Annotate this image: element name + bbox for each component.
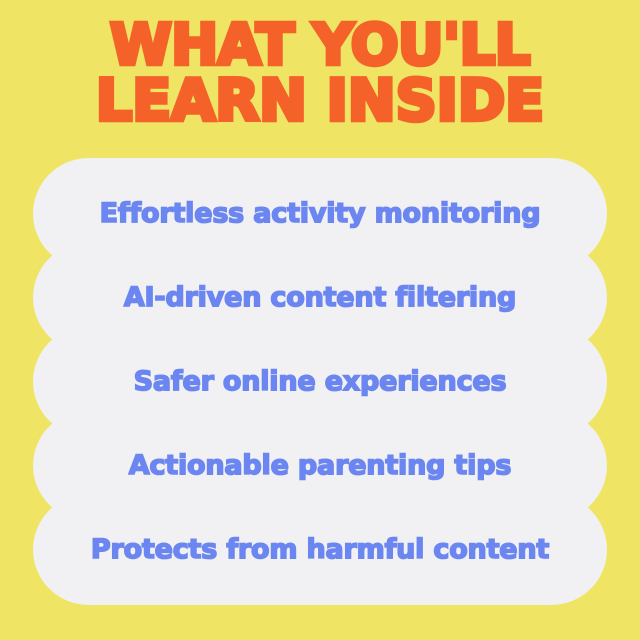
feature-list: Protects from harmful content Actionable…	[33, 158, 607, 605]
feature-label-3: Safer online experiences	[134, 368, 507, 395]
page-title: WHAT YOU'LL LEARN INSIDE	[0, 18, 640, 130]
promo-poster: WHAT YOU'LL LEARN INSIDE Protects from h…	[0, 0, 640, 640]
page-title-line-1: WHAT YOU'LL	[0, 18, 640, 73]
feature-label-2: AI-driven content filtering	[124, 284, 516, 311]
list-item[interactable]: Effortless activity monitoring	[33, 158, 607, 269]
feature-label-1: Effortless activity monitoring	[100, 200, 541, 227]
page-title-line-2: LEARN INSIDE	[0, 73, 640, 129]
feature-label-4: Actionable parenting tips	[129, 452, 511, 479]
feature-label-5: Protects from harmful content	[91, 536, 549, 563]
